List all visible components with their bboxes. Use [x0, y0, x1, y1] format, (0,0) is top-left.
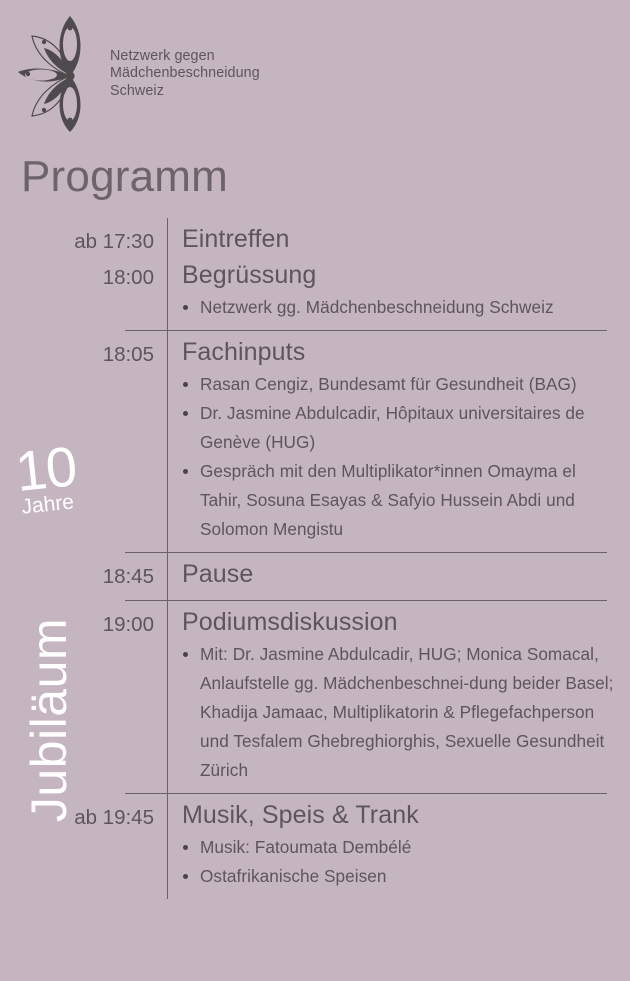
schedule-entry-title: Begrüssung: [182, 257, 630, 293]
time-column: ab 19:45: [0, 794, 167, 899]
schedule-group-body: 18:05FachinputsRasan Cengiz, Bundesamt f…: [0, 331, 630, 552]
bullet-icon: [183, 382, 188, 387]
schedule-entry-title: Eintreffen: [182, 221, 630, 257]
schedule-entry-title: Fachinputs: [182, 334, 630, 370]
schedule-group: 19:00PodiumsdiskussionMit: Dr. Jasmine A…: [0, 600, 630, 793]
schedule-group: ab 19:45Musik, Speis & TrankMusik: Fatou…: [0, 793, 630, 899]
entry-column: Pause: [168, 553, 630, 600]
list-item: Dr. Jasmine Abdulcadir, Hôpitaux univers…: [182, 399, 618, 457]
schedule-group-body: ab 17:3018:00EintreffenBegrüssungNetzwer…: [0, 218, 630, 330]
entry-column: FachinputsRasan Cengiz, Bundesamt für Ge…: [168, 331, 630, 552]
schedule-entry-title: Pause: [182, 556, 630, 592]
schedule-entry-details: Mit: Dr. Jasmine Abdulcadir, HUG; Monica…: [182, 640, 630, 785]
bullet-icon: [183, 874, 188, 879]
flower-logo-icon: [18, 14, 104, 132]
bullet-icon: [183, 469, 188, 474]
list-item: Rasan Cengiz, Bundesamt für Gesundheit (…: [182, 370, 618, 399]
schedule-group: ab 17:3018:00EintreffenBegrüssungNetzwer…: [0, 218, 630, 330]
time-column: ab 17:3018:00: [0, 218, 167, 330]
bullet-icon: [183, 845, 188, 850]
list-item: Musik: Fatoumata Dembélé: [182, 833, 618, 862]
bullet-icon: [183, 652, 188, 657]
schedule-time: ab 17:30: [0, 224, 154, 260]
schedule-time: ab 19:45: [0, 800, 154, 836]
entry-column: EintreffenBegrüssungNetzwerk gg. Mädchen…: [168, 218, 630, 330]
schedule-time: 18:00: [0, 260, 154, 296]
schedule-group: 18:45Pause: [0, 552, 630, 600]
schedule-entry-details: Netzwerk gg. Mädchenbeschneidung Schweiz: [182, 293, 630, 322]
bullet-icon: [183, 305, 188, 310]
schedule-group: 18:05FachinputsRasan Cengiz, Bundesamt f…: [0, 330, 630, 552]
schedule-group-body: ab 19:45Musik, Speis & TrankMusik: Fatou…: [0, 794, 630, 899]
schedule-time: 18:05: [0, 337, 154, 373]
list-item: Ostafrikanische Speisen: [182, 862, 618, 891]
schedule-entry-title: Podiumsdiskussion: [182, 604, 630, 640]
page-title: Programm: [21, 152, 228, 202]
time-column: 19:00: [0, 601, 167, 793]
logo-wordmark: Netzwerk gegen Mädchenbeschneidung Schwe…: [110, 48, 260, 100]
schedule-time: 19:00: [0, 607, 154, 643]
schedule-entry-details: Musik: Fatoumata DembéléOstafrikanische …: [182, 833, 630, 891]
entry-column: Musik, Speis & TrankMusik: Fatoumata Dem…: [168, 794, 630, 899]
entry-column: PodiumsdiskussionMit: Dr. Jasmine Abdulc…: [168, 601, 630, 793]
schedule-group-body: 19:00PodiumsdiskussionMit: Dr. Jasmine A…: [0, 601, 630, 793]
bullet-icon: [183, 411, 188, 416]
schedule-entry-details: Rasan Cengiz, Bundesamt für Gesundheit (…: [182, 370, 630, 544]
list-item: Gespräch mit den Multiplikator*innen Oma…: [182, 457, 618, 544]
list-item: Netzwerk gg. Mädchenbeschneidung Schweiz: [182, 293, 618, 322]
schedule-entry-title: Musik, Speis & Trank: [182, 797, 630, 833]
organization-logo: Netzwerk gegen Mädchenbeschneidung Schwe…: [18, 14, 318, 134]
schedule-time: 18:45: [0, 559, 154, 595]
time-column: 18:45: [0, 553, 167, 600]
list-item: Mit: Dr. Jasmine Abdulcadir, HUG; Monica…: [182, 640, 618, 785]
program-schedule: ab 17:3018:00EintreffenBegrüssungNetzwer…: [0, 218, 630, 899]
schedule-group-body: 18:45Pause: [0, 553, 630, 600]
time-column: 18:05: [0, 331, 167, 552]
